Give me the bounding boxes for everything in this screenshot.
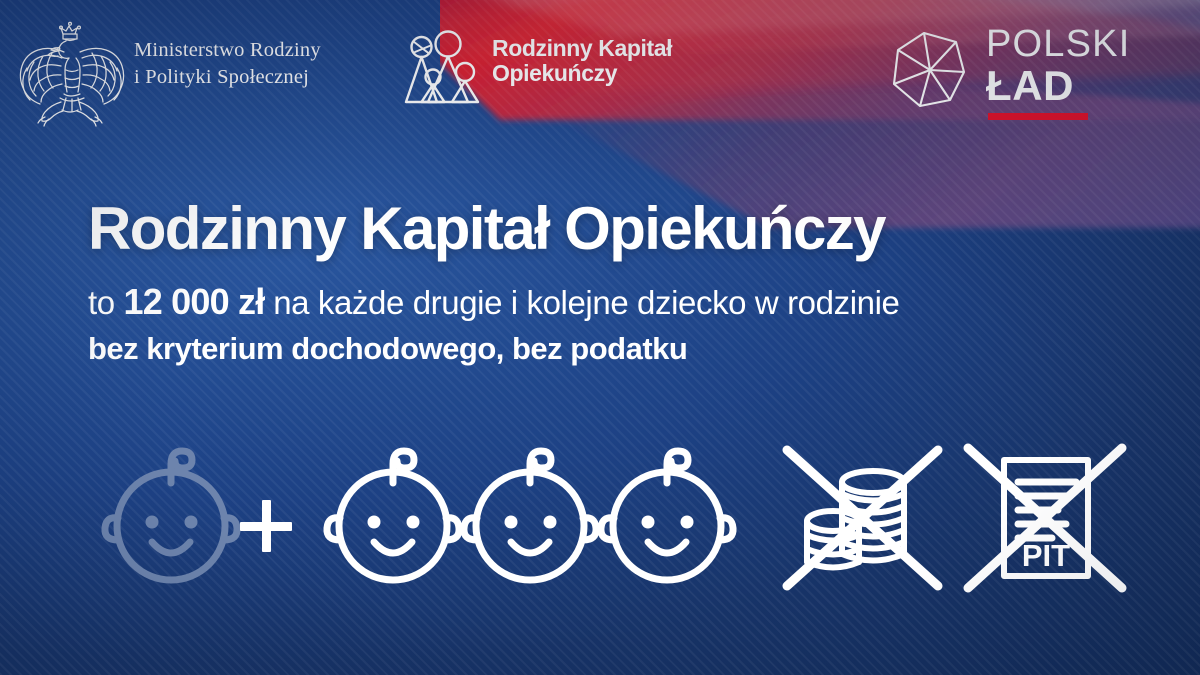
baby-face-icon-3 <box>592 438 742 598</box>
program-logo: Rodzinny Kapitał Opiekuńczy <box>404 30 694 110</box>
baby-face-icon-muted <box>96 438 246 598</box>
ministry-name: Ministerstwo Rodziny i Polityki Społeczn… <box>134 37 321 91</box>
pit-label: PIT <box>1022 538 1070 573</box>
subtitle-line-1: to 12 000 zł na każde drugie i kolejne d… <box>88 280 1158 325</box>
program-logo-text: Rodzinny Kapitał Opiekuńczy <box>492 36 672 86</box>
crossed-out-pit-document-icon: PIT <box>960 438 1130 598</box>
baby-face-icon-2 <box>455 438 605 598</box>
subtitle-prefix: to <box>88 284 124 321</box>
header: Ministerstwo Rodziny i Polityki Społeczn… <box>0 0 1200 140</box>
headline-block: Rodzinny Kapitał Opiekuńczy to 12 000 zł… <box>88 196 1158 370</box>
polski-lad-line-2: ŁAD <box>986 64 1131 108</box>
polish-eagle-emblem-icon <box>14 18 126 130</box>
polski-lad-line-1: POLSKI <box>986 24 1131 64</box>
ministry-line-1: Ministerstwo Rodziny <box>134 37 321 64</box>
page-title: Rodzinny Kapitał Opiekuńczy <box>88 196 1158 262</box>
family-figures-icon <box>404 30 486 108</box>
subtitle-suffix: na każde drugie i kolejne dziecko w rodz… <box>264 284 899 321</box>
polski-lad-wordmark: POLSKI ŁAD <box>986 24 1131 120</box>
program-logo-line-1: Rodzinny Kapitał <box>492 36 672 61</box>
polski-lad-logo: POLSKI ŁAD <box>884 24 1184 118</box>
benefit-amount: 12 000 zł <box>124 281 265 322</box>
crossed-out-coins-icon <box>775 438 950 598</box>
subtitle-block: to 12 000 zł na każde drugie i kolejne d… <box>88 280 1158 370</box>
polski-lad-polygon-icon <box>884 26 976 114</box>
infographic-poster: Ministerstwo Rodziny i Polityki Społeczn… <box>0 0 1200 675</box>
polski-lad-red-underline <box>988 113 1088 120</box>
program-logo-line-2: Opiekuńczy <box>492 61 672 86</box>
subtitle-line-2: bez kryterium dochodowego, bez podatku <box>88 328 1158 370</box>
ministry-line-2: i Polityki Społecznej <box>134 64 321 91</box>
baby-face-icon-1 <box>318 438 468 598</box>
icon-row: PIT <box>0 438 1200 618</box>
plus-sign <box>240 500 292 552</box>
